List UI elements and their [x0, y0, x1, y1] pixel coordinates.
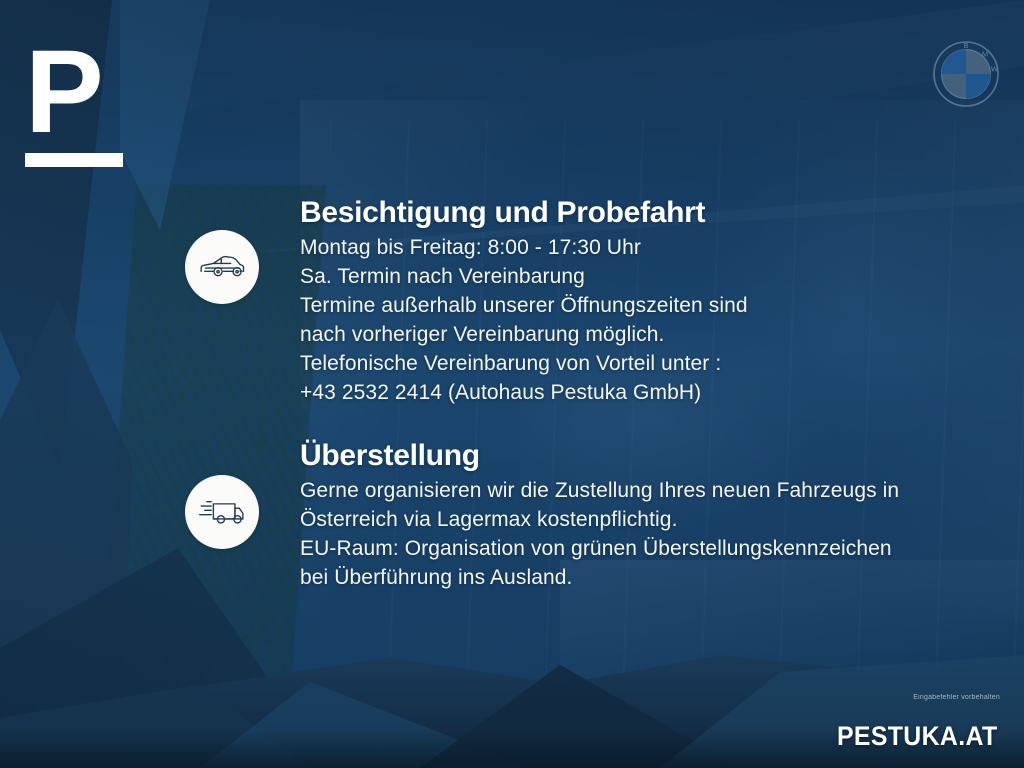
section-line: nach vorheriger Vereinbarung möglich. [300, 321, 748, 350]
section-text: Überstellung Gerne organisieren wir die … [300, 438, 899, 593]
section-line: Telefonische Vereinbarung von Vorteil un… [300, 350, 748, 379]
content-area: Besichtigung und Probefahrt Montag bis F… [0, 0, 1024, 768]
promo-slide: P B M W [0, 0, 1024, 768]
section-line: Sa. Termin nach Vereinbarung [300, 263, 748, 292]
section-vehicle-delivery: Überstellung Gerne organisieren wir die … [185, 438, 899, 593]
section-heading: Überstellung [300, 438, 899, 473]
section-text: Besichtigung und Probefahrt Montag bis F… [300, 195, 748, 408]
site-wordmark: PESTUKA.AT [837, 721, 998, 752]
section-line: EU-Raum: Organisation von grünen Überste… [300, 535, 899, 564]
section-line: Gerne organisieren wir die Zustellung Ih… [300, 477, 899, 506]
section-line: Österreich via Lagermax kostenpflichtig. [300, 506, 899, 535]
section-viewing-testdrive: Besichtigung und Probefahrt Montag bis F… [185, 195, 748, 408]
section-line: bei Überführung ins Ausland. [300, 564, 899, 593]
disclaimer-text: Eingabefehler vorbehalten [913, 694, 1000, 701]
car-icon [185, 230, 259, 304]
delivery-truck-icon [185, 475, 259, 549]
section-line-phone: +43 2532 2414 (Autohaus Pestuka GmbH) [300, 379, 748, 408]
section-line: Montag bis Freitag: 8:00 - 17:30 Uhr [300, 234, 748, 263]
section-line: Termine außerhalb unserer Öffnungszeiten… [300, 292, 748, 321]
section-heading: Besichtigung und Probefahrt [300, 195, 748, 230]
